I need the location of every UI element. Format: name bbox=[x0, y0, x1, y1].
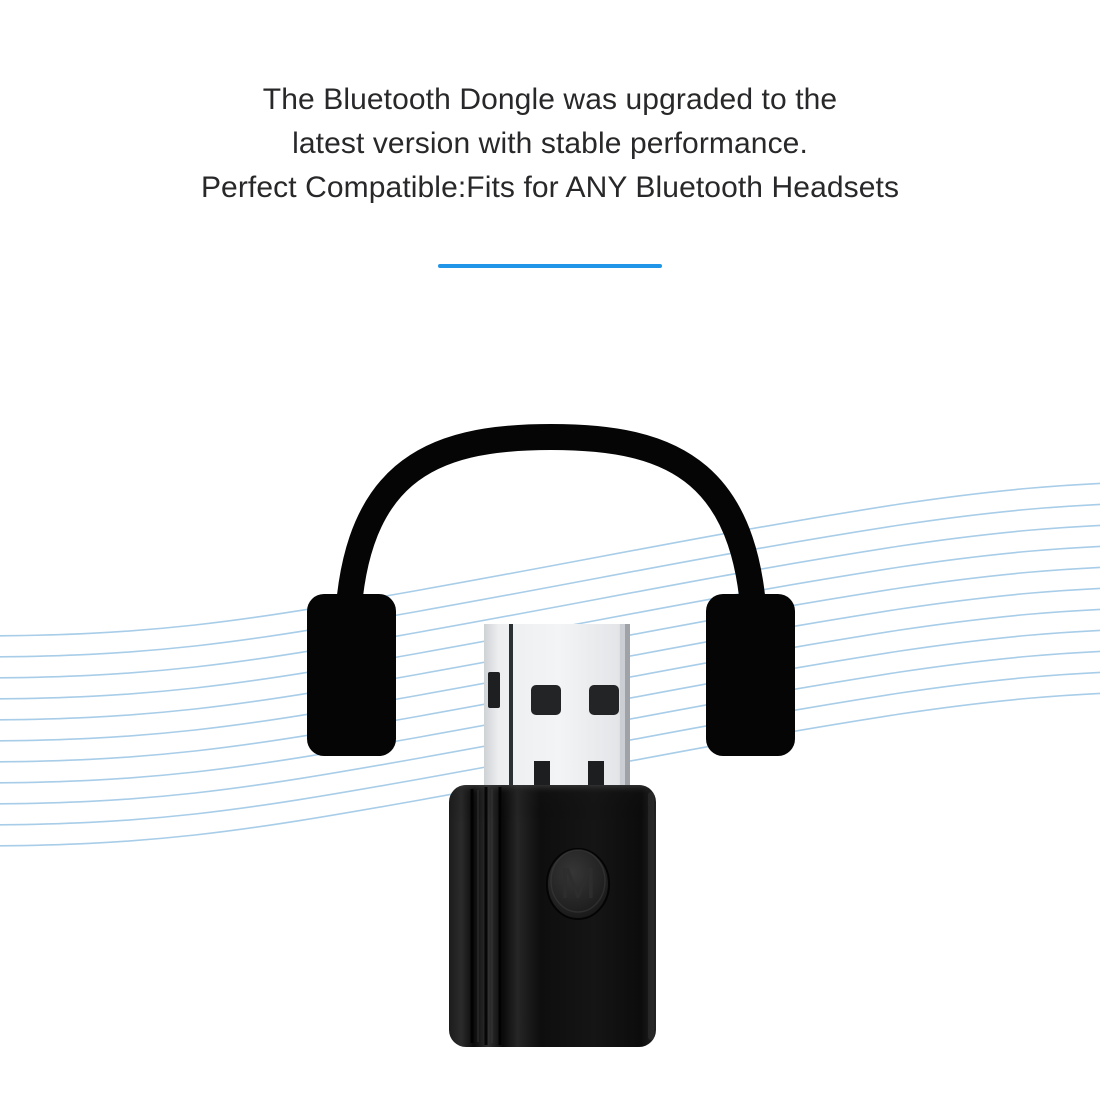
dongle-m-button: M bbox=[547, 849, 609, 919]
headline-block: The Bluetooth Dongle was upgraded to the… bbox=[0, 78, 1100, 210]
headline-line-1: The Bluetooth Dongle was upgraded to the bbox=[0, 78, 1100, 122]
accent-divider bbox=[438, 264, 662, 268]
dongle-body bbox=[449, 785, 656, 1047]
dongle-m-button-label: M bbox=[560, 859, 597, 908]
headline-line-2: latest version with stable performance. bbox=[0, 122, 1100, 166]
usb-connector bbox=[484, 624, 630, 793]
product-banner: M The Bluetooth Dongle was upgraded to t… bbox=[0, 0, 1100, 1100]
headline-line-3: Perfect Compatible:Fits for ANY Bluetoot… bbox=[0, 166, 1100, 210]
